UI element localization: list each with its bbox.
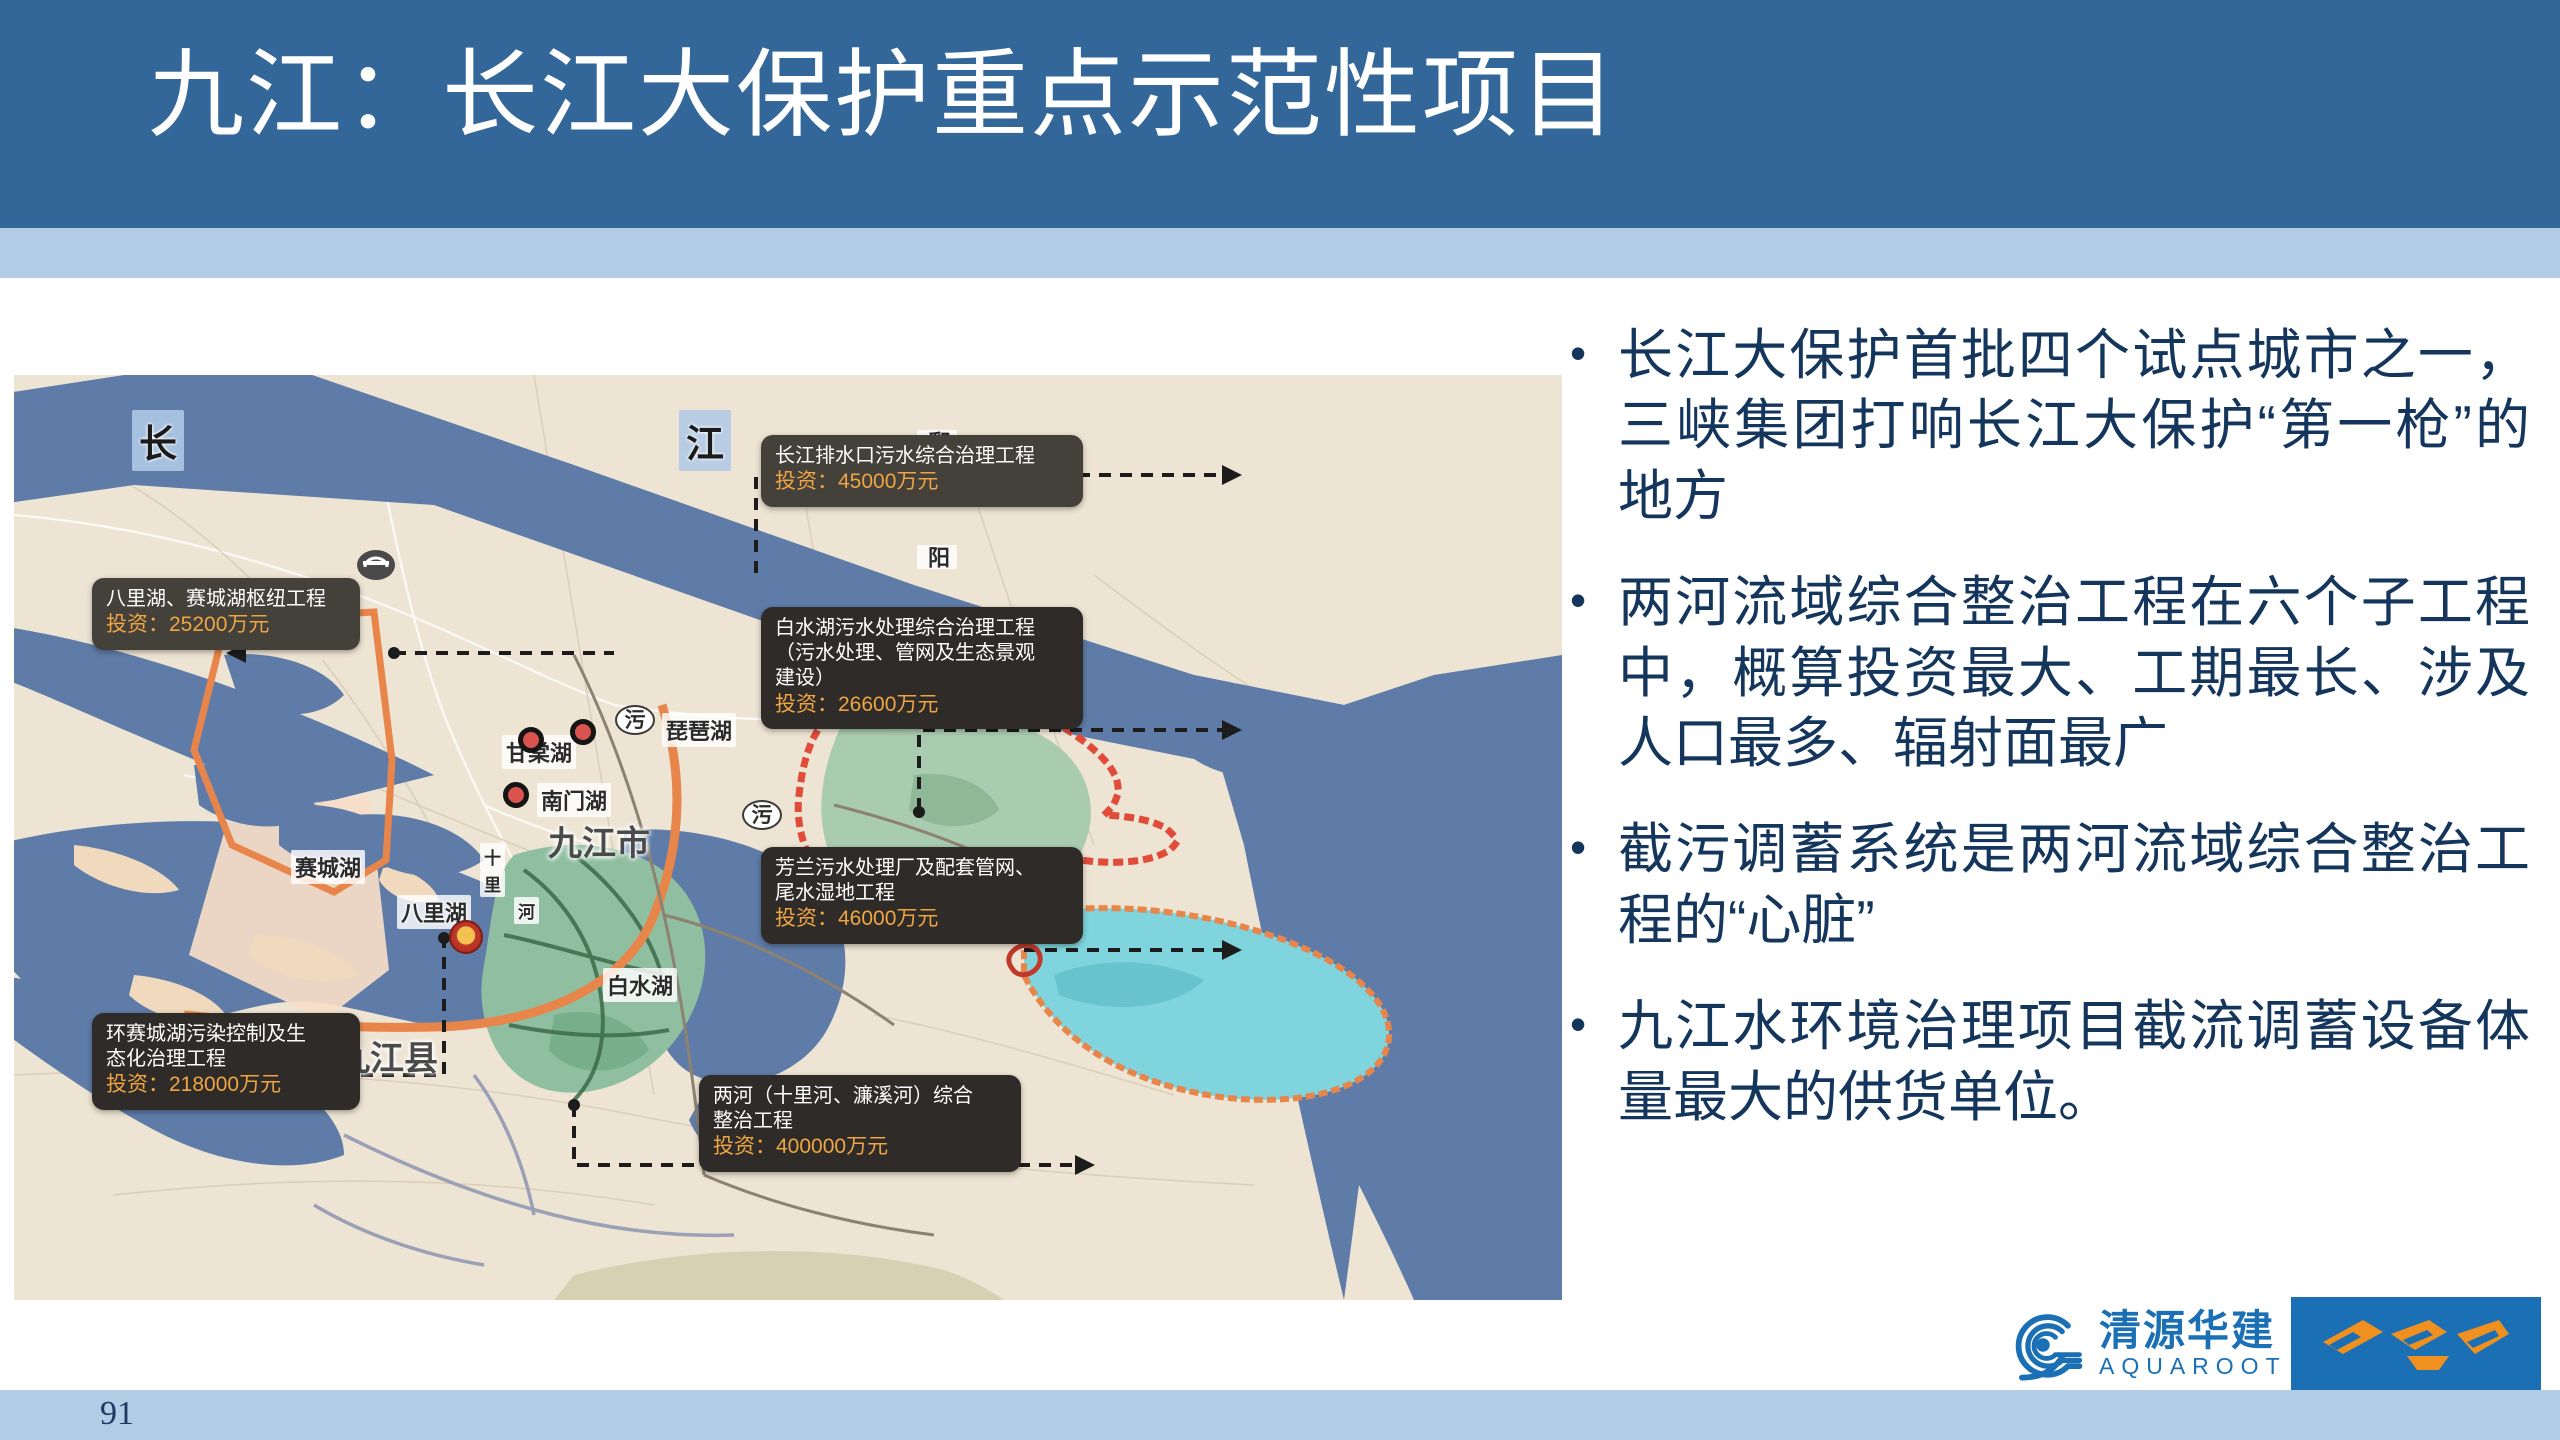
project-map[interactable]: 长 江 九江市 九江县 赛城湖 八里湖 甘棠湖 南门湖 白水湖 琵琶湖 姑塘镇 … [14, 375, 1562, 1300]
callout-title-2: 态化治理工程 [106, 1047, 346, 1072]
bullet-item-1: • 长江大保护首批四个试点城市之一，三峡集团打响长江大保护“第一枪”的地方 [1570, 320, 2530, 531]
callout-baishuihu[interactable]: 白水湖污水处理综合治理工程 （污水处理、管网及生态景观 建设） 投资：26600… [761, 607, 1083, 729]
callout-title-2: （污水处理、管网及生态景观 [775, 641, 1069, 666]
page-title: 九江：长江大保护重点示范性项目 [148, 36, 1618, 156]
bullet-marker-icon: • [1570, 320, 1618, 531]
callout-cost: 投资：400000万元 [713, 1134, 1007, 1160]
map-label-he: 河 [514, 897, 539, 924]
callout-title: 环赛城湖污染控制及生 [106, 1022, 346, 1047]
bullet-item-2: • 两河流域综合整治工程在六个子工程中，概算投资最大、工期最长、涉及人口最多、辐… [1570, 567, 2530, 778]
aquaroot-en-name: AQUAROOT [2099, 1353, 2287, 1381]
map-label-saichenghu: 赛城湖 [291, 850, 365, 884]
callout-cost: 投资：46000万元 [775, 906, 1069, 932]
bullet-item-3: • 截污调蓄系统是两河流域综合整治工程的“心脏” [1570, 814, 2530, 955]
bullet-item-4: • 九江水环境治理项目截流调蓄设备体量最大的供货单位。 [1570, 991, 2530, 1132]
callout-cost: 投资：25200万元 [106, 612, 346, 638]
city-emblem [449, 920, 483, 954]
callout-title-2: 尾水湿地工程 [775, 881, 1069, 906]
page-number: 91 [100, 1395, 134, 1433]
callout-title: 两河（十里河、濂溪河）综合 [713, 1084, 1007, 1109]
aquaroot-logo: 清源华建 AQUAROOT [1995, 1297, 2287, 1393]
aquaroot-wordmark: 清源华建 AQUAROOT [2099, 1309, 2287, 1381]
bullet-text-3: 截污调蓄系统是两河流域综合整治工程的“心脏” [1618, 814, 2530, 955]
bullet-marker-icon: • [1570, 567, 1618, 778]
callout-title: 白水湖污水处理综合治理工程 [775, 616, 1069, 641]
callout-balihu-saichenghu[interactable]: 八里湖、赛城湖枢纽工程 投资：25200万元 [92, 578, 360, 650]
bullet-marker-icon: • [1570, 814, 1618, 955]
callout-changjiang-outfall[interactable]: 长江排水口污水综合治理工程 投资：45000万元 [761, 435, 1083, 507]
aquaroot-cn-name: 清源华建 [2099, 1309, 2287, 1353]
outfall-pin-3 [518, 727, 544, 753]
map-label-nanmenhu: 南门湖 [537, 783, 611, 817]
bullet-text-1: 长江大保护首批四个试点城市之一，三峡集团打响长江大保护“第一枪”的地方 [1618, 320, 2530, 531]
pollution-badge-1: 污 [615, 705, 655, 735]
footer-bar [0, 1390, 2560, 1440]
callout-huan-saichenghu[interactable]: 环赛城湖污染控制及生 态化治理工程 投资：218000万元 [92, 1013, 360, 1110]
callout-title-3: 建设） [775, 666, 1069, 691]
bullet-text-4: 九江水环境治理项目截流调蓄设备体量最大的供货单位。 [1618, 991, 2530, 1132]
map-label-pipahu: 琵琶湖 [662, 713, 736, 747]
map-label-baishuihu: 白水湖 [603, 968, 677, 1002]
callout-fanglan[interactable]: 芳兰污水处理厂及配套管网、 尾水湿地工程 投资：46000万元 [761, 847, 1083, 944]
logo-area: 清源华建 AQUAROOT [1995, 1295, 2541, 1395]
map-label-chang: 长 [132, 410, 184, 471]
callout-lianghe[interactable]: 两河（十里河、濂溪河）综合 整治工程 投资：400000万元 [699, 1075, 1021, 1172]
pollution-badge-2: 污 [742, 800, 782, 830]
callout-title: 长江排水口污水综合治理工程 [775, 444, 1069, 469]
map-label-shi: 十 [480, 843, 505, 870]
bullet-text-2: 两河流域综合整治工程在六个子工程中，概算投资最大、工期最长、涉及人口最多、辐射面… [1618, 567, 2530, 778]
callout-cost: 投资：45000万元 [775, 469, 1069, 495]
map-label-poyang-yang: 阳 [917, 545, 957, 569]
callout-cost: 投资：26600万元 [775, 692, 1069, 718]
partner-logo-mark-icon [2311, 1312, 2521, 1378]
bullet-marker-icon: • [1570, 991, 1618, 1132]
callout-title: 八里湖、赛城湖枢纽工程 [106, 587, 346, 612]
spiral-logo-icon [1995, 1297, 2091, 1393]
partner-logo [2291, 1297, 2541, 1393]
bullet-list: • 长江大保护首批四个试点城市之一，三峡集团打响长江大保护“第一枪”的地方 • … [1570, 320, 2530, 1168]
callout-cost: 投资：218000万元 [106, 1072, 346, 1098]
callout-title: 芳兰污水处理厂及配套管网、 [775, 856, 1069, 881]
map-label-li: 里 [480, 870, 505, 897]
outfall-pin-4 [503, 782, 529, 808]
outfall-pin-1 [570, 719, 596, 745]
map-label-jiang: 江 [679, 410, 731, 471]
map-label-jiujiang-city: 九江市 [544, 815, 654, 866]
callout-title-2: 整治工程 [713, 1109, 1007, 1134]
header-accent-band [0, 228, 2560, 278]
